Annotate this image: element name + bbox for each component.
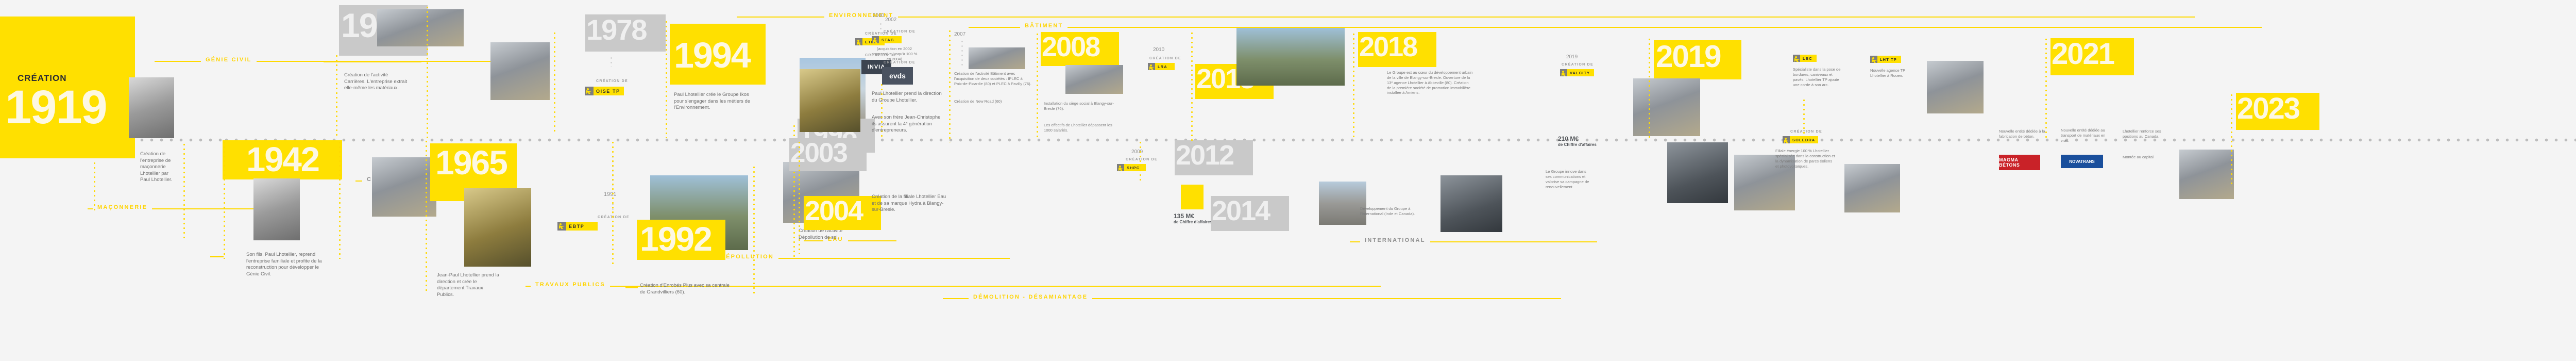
brand-label: LBC xyxy=(1803,56,1812,61)
brand-chip-lra[interactable]: LRA xyxy=(1148,63,1175,73)
event-caption-1965: Jean-Paul Lhotellier prend la direction … xyxy=(437,272,500,298)
brand-chip-lbc[interactable]: LBC xyxy=(1793,55,1817,64)
event-creation-label-2013: CRÉATION DE xyxy=(1142,57,1189,60)
event-creation-label-2019: CRÉATION DE xyxy=(1554,63,1601,67)
brand-chip-evds[interactable]: evds xyxy=(882,67,913,85)
connector-vertical xyxy=(799,140,800,254)
connector-vertical xyxy=(339,140,341,259)
brand-label: evds xyxy=(882,67,913,85)
event-photo-2003 xyxy=(800,69,860,132)
brand-chip-shpc[interactable]: SHPC xyxy=(1117,164,1146,174)
lhotellier-logo-icon xyxy=(872,36,879,43)
brand-label: MAGMA BÉTONS xyxy=(1999,155,2040,170)
rail-label-travaux-publics: TRAVAUX PUBLICS xyxy=(531,282,610,288)
event-caption-1955: Création de l'activité Carrières. L'entr… xyxy=(344,72,410,92)
brand-chip-novatrans[interactable]: NOVATRANS xyxy=(2061,155,2103,168)
connector-vertical xyxy=(1140,140,1141,183)
event-year-2012: 2012 xyxy=(1176,141,1233,169)
lhotellier-logo-icon xyxy=(1148,63,1155,70)
brand-label: LHT TP xyxy=(1880,57,1897,62)
event-photo-1978 xyxy=(490,42,550,100)
brand-label: NOVATRANS xyxy=(2061,155,2103,168)
event-creation-label-2009: CRÉATION DE xyxy=(1118,158,1165,161)
connector-vertical xyxy=(426,139,427,294)
lhotellier-logo-icon xyxy=(585,87,594,95)
event-creation-label-2002: CRÉATION DE xyxy=(876,30,923,34)
brand-label: LRA xyxy=(1158,64,1167,69)
connector-vertical xyxy=(2231,93,2232,186)
event-badge-2012 xyxy=(1181,185,1204,209)
event-year-1942: 1942 xyxy=(246,142,319,177)
event-photo-1942 xyxy=(253,178,300,240)
event-year-2018: 2018 xyxy=(1359,33,1417,61)
event-year-2002: 2002 xyxy=(885,17,896,23)
brand-chip-lht-tp[interactable]: LHT TP xyxy=(1870,56,1901,65)
brand-label: OISE TP xyxy=(596,89,620,94)
event-year-1992: 1992 xyxy=(640,222,711,256)
event-photo-2007 xyxy=(969,47,1025,69)
kpi-label-2012: de Chiffre d'affaires xyxy=(1174,220,1212,224)
rail-label-batiment: BÂTIMENT xyxy=(1020,23,1067,29)
rail-label-maconnerie: MAÇONNERIE xyxy=(93,204,152,210)
event-caption-2020: Filiale énergie 100 % Lhotellier spécial… xyxy=(1775,149,1836,169)
brand-label: EBTP xyxy=(569,224,584,229)
event-photo-1965 xyxy=(464,188,531,267)
event-caption-1942: Son fils, Paul Lhotellier, reprend l'ent… xyxy=(246,252,329,277)
brand-label: SHPC xyxy=(1127,166,1140,170)
connector-vertical xyxy=(224,140,225,259)
event-photo-2019-b xyxy=(1667,142,1728,203)
connector-vertical xyxy=(427,5,428,138)
connector-vertical xyxy=(949,29,951,142)
event-year-1965: 1965 xyxy=(435,145,507,179)
event-photo-2008 xyxy=(1065,65,1123,94)
event-photo-2021-a xyxy=(1927,61,1984,113)
event-photo-2022 xyxy=(2179,150,2234,199)
connector-vertical xyxy=(961,39,963,67)
connector-horizontal xyxy=(210,256,224,257)
event-caption-2019: Le Groupe innove dans ses communications… xyxy=(1546,169,1591,189)
rail-label-demolition: DÉMOLITION - DÉSAMIANTAGE xyxy=(969,294,1092,300)
event-year-2000: 2000 xyxy=(873,12,884,19)
event-creation-label-1978: CRÉATION DE xyxy=(591,79,633,83)
event-caption-2004: Création de la filiale Lhotellier Eau et… xyxy=(872,194,946,214)
lhotellier-logo-icon xyxy=(1783,136,1790,143)
event-year-2019-sub: 2019 xyxy=(1566,54,1578,60)
event-caption-2008: Installation du siège social à Blangy-su… xyxy=(1044,101,1117,111)
event-year-1991: 1991 xyxy=(604,191,616,198)
connector-vertical xyxy=(2045,37,2047,140)
event-year-1978: 1978 xyxy=(586,15,647,44)
event-caption-1994: Paul Lhotellier crée le Groupe Ikos pour… xyxy=(674,92,756,111)
lhotellier-logo-icon xyxy=(1560,69,1567,76)
event-year-2008: 2008 xyxy=(1042,33,1099,61)
event-caption-2014: Développement du Groupe à l'Internationa… xyxy=(1360,206,1427,217)
event-caption-2022-b: Nouvelle entité dédiée au transport de m… xyxy=(2061,128,2112,143)
event-photo-2020 xyxy=(1844,164,1900,212)
event-caption-1992: Création d'Enrobés Plus avec sa centrale… xyxy=(640,283,730,296)
event-year-2022: 2023 xyxy=(2237,94,2299,124)
event-caption-2007-b: Création de New Road (60) xyxy=(954,99,1031,104)
connector-vertical xyxy=(612,140,614,264)
event-caption-2021-b: Nouvelle agence TP Lhotellier à Rouen. xyxy=(1870,68,1921,78)
event-photo-2014 xyxy=(1319,182,1366,225)
event-year-2021: 2021 xyxy=(2052,39,2114,69)
event-caption-2007: Création de l'activité Bâtiment avec l'a… xyxy=(954,71,1031,87)
event-year-1919: 1919 xyxy=(5,84,107,131)
event-year-2019: 2019 xyxy=(1656,41,1720,72)
kpi-value-2019: 210 M€ xyxy=(1558,135,1579,142)
event-year-1994: 1994 xyxy=(674,37,750,73)
connector-vertical xyxy=(183,142,185,239)
kpi-value-2012: 135 M€ xyxy=(1174,212,1194,220)
event-creation-label-2020: CRÉATION DE xyxy=(1783,130,1830,134)
event-caption-2003: Paul Lhotellier prend la direction du Gr… xyxy=(872,91,946,104)
rail-label-depollution: DÉPOLLUTION xyxy=(716,254,778,260)
event-caption-2022-c: Lhotellier renforce ses positions au Can… xyxy=(2123,129,2176,139)
rail-batiment xyxy=(969,27,2262,28)
event-caption-2022-d: Montée au capital xyxy=(2123,155,2176,160)
brand-chip-valcity[interactable]: VALCITY xyxy=(1560,69,1594,79)
event-photo-2019-a xyxy=(1633,78,1700,136)
connector-vertical xyxy=(94,161,95,210)
connector-horizontal xyxy=(625,287,638,288)
brand-chip-ebtp[interactable]: EBTP xyxy=(557,222,598,233)
lhotellier-logo-icon xyxy=(1793,55,1800,62)
brand-chip-soledra[interactable]: SOLEDRA xyxy=(1783,136,1818,146)
event-caption-2003-b: Avec son frère Jean-Christophe ils assur… xyxy=(872,114,946,134)
event-caption-2008-b: Les effectifs de Lhotellier dépassent le… xyxy=(1044,123,1117,133)
connector-vertical xyxy=(1191,31,1193,141)
event-creation-label-2002b: CRÉATION DE xyxy=(876,61,923,64)
event-year-2007: 2007 xyxy=(954,31,965,38)
connector-vertical xyxy=(1353,32,1354,140)
lhotellier-logo-icon xyxy=(1117,164,1124,171)
event-photo-1919 xyxy=(129,77,174,138)
event-photo-2013 xyxy=(1236,28,1345,86)
brand-label: SOLEDRA xyxy=(1792,138,1815,142)
connector-vertical xyxy=(336,54,337,139)
rail-label-genie-civil: GÉNIE CIVIL xyxy=(201,57,257,63)
rail-environnement xyxy=(737,17,2195,18)
event-caption-1919: Création de l'entreprise de maçonnerie L… xyxy=(140,151,177,184)
event-year-2014: 2014 xyxy=(1212,197,1269,225)
event-photo-2018 xyxy=(1440,175,1502,232)
connector-vertical xyxy=(1037,32,1038,140)
connector-vertical xyxy=(666,20,667,138)
brand-label: STAG xyxy=(882,38,894,42)
kpi-label-2019: de Chiffre d'affaires xyxy=(1558,142,1597,147)
connector-vertical xyxy=(1803,98,1805,134)
event-caption-2022: Nouvelle entité dédiée à la fabrication … xyxy=(1999,129,2050,139)
brand-chip-stag[interactable]: STAG xyxy=(872,36,902,46)
connector-horizontal xyxy=(324,61,421,62)
lhotellier-logo-icon xyxy=(557,222,566,231)
timeline-dotline xyxy=(222,138,2576,142)
brand-label: VALCITY xyxy=(1570,71,1590,75)
event-note-2002: (acquisition en 2002 progressive jusqu'à… xyxy=(871,46,918,62)
timeline-canvas: GÉNIE CIVIL MAÇONNERIE CARRIÈRES TRAVAUX… xyxy=(0,0,2576,361)
connector-vertical xyxy=(611,56,612,67)
connector-vertical xyxy=(753,165,755,294)
connector-vertical xyxy=(554,31,555,134)
rail-label-international: INTERNATIONAL xyxy=(1360,237,1430,243)
event-photo-1955 xyxy=(377,9,464,46)
brand-chip-magma[interactable]: MAGMA BÉTONS xyxy=(1999,155,2040,170)
event-year-lra: 2010 xyxy=(1153,46,1164,53)
lhotellier-logo-icon xyxy=(855,38,862,45)
event-creation-label-1991: CRÉATION DE xyxy=(590,216,637,219)
connector-vertical xyxy=(1649,37,1650,140)
event-caption-2018: Le Groupe est au cœur du développement u… xyxy=(1387,70,1473,95)
event-year-2004: 2004 xyxy=(805,197,862,225)
event-caption-2021: Spécialiste dans la pose de bordures, ca… xyxy=(1793,67,1843,87)
lhotellier-logo-icon xyxy=(1870,56,1877,63)
brand-chip-oise-tp[interactable]: OISE TP xyxy=(585,87,624,98)
